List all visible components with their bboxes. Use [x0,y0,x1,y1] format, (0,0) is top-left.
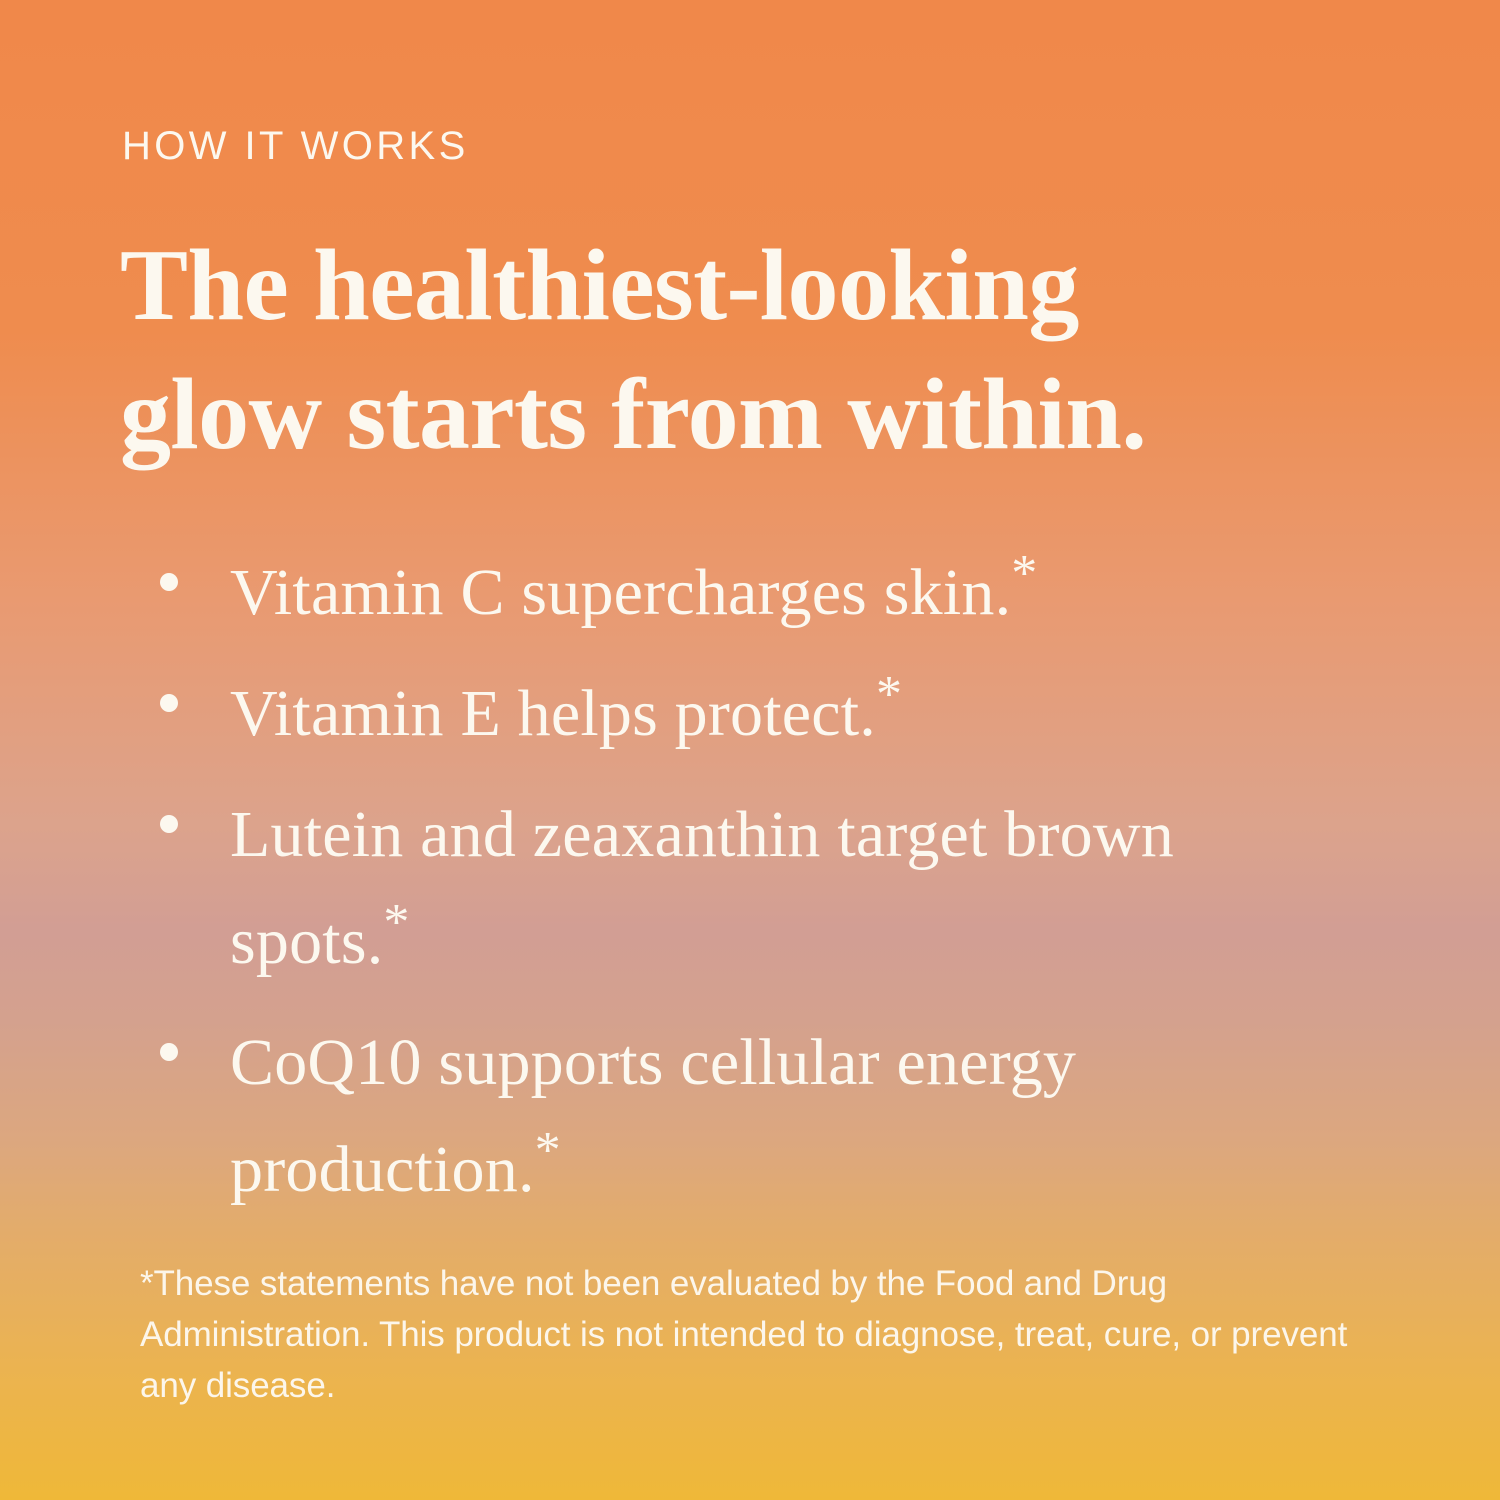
poster-content: HOW IT WORKS The healthiest-looking glow… [0,0,1500,1500]
footnote-marker-icon: * [383,894,409,951]
bullet-dot-icon [160,573,178,591]
benefits-list: Vitamin C supercharges skin.* Vitamin E … [160,540,1400,1237]
benefit-text: Vitamin E helps protect.* [230,661,1240,768]
benefit-text: CoQ10 supports cellular energy productio… [230,1010,1240,1224]
benefit-label: Lutein and zeaxanthin target brown spots… [230,798,1174,978]
list-item: Lutein and zeaxanthin target brown spots… [160,782,1400,996]
list-item: CoQ10 supports cellular energy productio… [160,1010,1400,1224]
how-it-works-poster: HOW IT WORKS The healthiest-looking glow… [0,0,1500,1500]
footnote-marker-icon: * [1011,545,1037,602]
bullet-dot-icon [160,815,178,833]
benefit-text: Vitamin C supercharges skin.* [230,540,1240,647]
benefit-label: Vitamin C supercharges skin. [230,556,1011,629]
fda-disclaimer: *These statements have not been evaluate… [140,1258,1370,1411]
headline-line-2: glow starts from within. [120,351,1390,480]
benefit-text: Lutein and zeaxanthin target brown spots… [230,782,1240,996]
list-item: Vitamin C supercharges skin.* [160,540,1400,647]
page-title: The healthiest-looking glow starts from … [120,222,1390,479]
eyebrow-label: HOW IT WORKS [122,126,469,166]
footnote-marker-icon: * [535,1122,561,1179]
benefit-label: Vitamin E helps protect. [230,677,876,750]
benefit-label: CoQ10 supports cellular energy productio… [230,1026,1076,1206]
bullet-dot-icon [160,1043,178,1061]
list-item: Vitamin E helps protect.* [160,661,1400,768]
headline-line-1: The healthiest-looking [120,222,1390,351]
footnote-marker-icon: * [876,666,902,723]
bullet-dot-icon [160,694,178,712]
